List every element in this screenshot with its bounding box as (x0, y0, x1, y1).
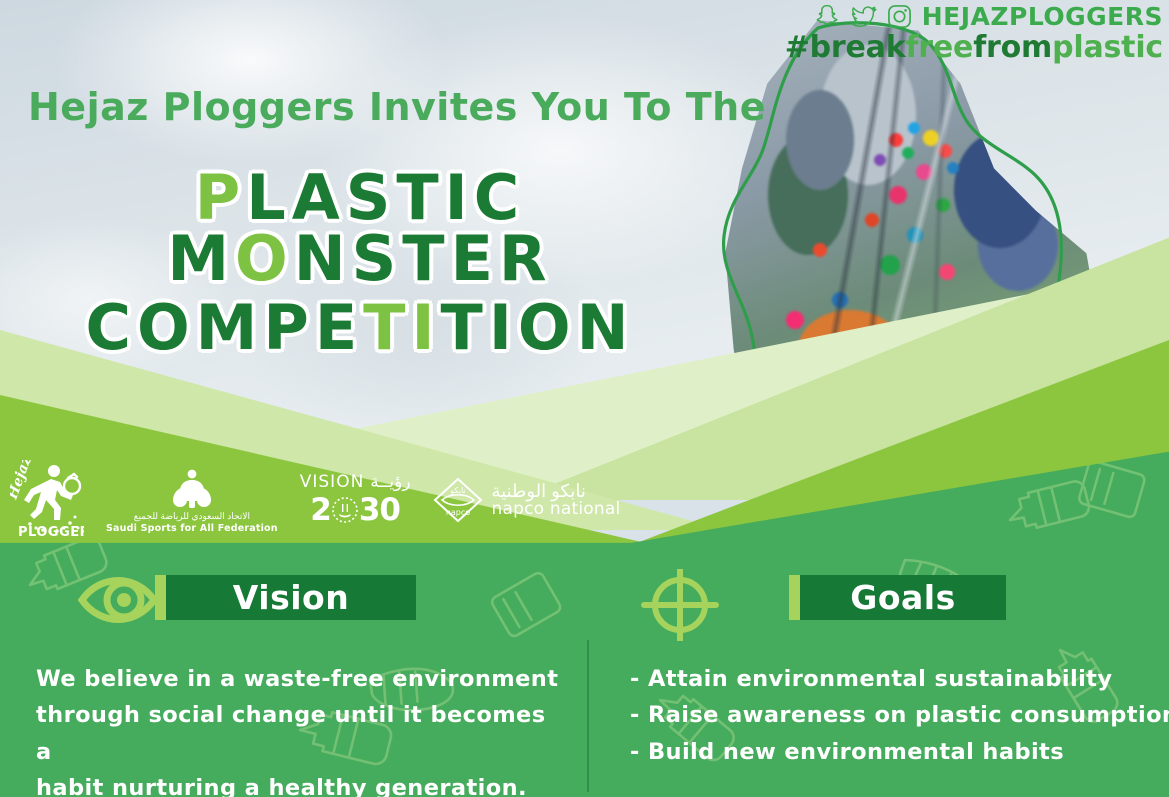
hashtag-breakfreefromplastic: #breakfreefromplastic (785, 30, 1163, 65)
page-title-line-2: COMPETITION (0, 298, 720, 359)
napco-wordmark: نابكو الوطنية napco national (492, 482, 621, 519)
napco-mark-arabic-text: نابكو (449, 486, 465, 495)
hejaz-ploggers-logo: Hejaz PLOGGERS (10, 460, 84, 540)
napco-english-text: napco national (492, 501, 621, 519)
hashtag-part-plastic: plastic (1052, 30, 1163, 65)
vision-body: We believe in a waste-free environment t… (0, 661, 580, 797)
page-title-line-1: PLASTIC MONSTER (167, 161, 552, 295)
title-glyph-ti: TI (363, 291, 440, 364)
snapchat-icon[interactable] (814, 3, 841, 30)
title-glyph-o: O (235, 222, 294, 295)
goals-title: Goals (850, 578, 955, 617)
vision-section: Vision We believe in a waste-free enviro… (0, 575, 580, 797)
vision-banner: Vision (166, 575, 416, 620)
goals-section: Goals - Attain environmental sustainabil… (600, 575, 1169, 770)
vision-line-3: habit nurturing a healthy generation. (36, 770, 560, 797)
goals-line-3: - Build new environmental habits (630, 734, 1169, 770)
goals-banner: Goals (800, 575, 1006, 620)
page-kicker: Hejaz Ploggers Invites You To The (28, 85, 766, 129)
vision-line-1: We believe in a waste-free environment (36, 661, 560, 697)
vision-year-row: 2 30 (310, 492, 400, 528)
napco-mark-latin-text: napco (445, 508, 469, 517)
goals-header-row: Goals (600, 575, 1169, 635)
target-icon (600, 569, 820, 641)
vision-emblem-icon (331, 496, 359, 524)
ploggers-wordmark-text: PLOGGERS (18, 525, 84, 540)
page-title: PLASTIC MONSTER COMPETITION (0, 168, 720, 358)
vision-year-right: 30 (359, 492, 400, 528)
saudi-sports-arabic-text: الاتحاد السعودي للرياضة للجميع (134, 512, 250, 522)
napco-arabic-text: نابكو الوطنية (492, 482, 586, 501)
vision-logo-top-row: VISION رؤيــة (300, 472, 411, 492)
title-glyph-nster: NSTER (294, 222, 553, 295)
napco-national-logo: نابكو napco نابكو الوطنية napco national (433, 477, 621, 523)
social-handle-text[interactable]: HEJAZPLOGGERS (922, 2, 1163, 31)
saudi-sports-for-all-federation-logo: الاتحاد السعودي للرياضة للجميع Saudi Spo… (106, 466, 278, 535)
social-handles[interactable]: HEJAZPLOGGERS (814, 2, 1163, 31)
saudi-sports-english-text: Saudi Sports for All Federation (106, 523, 278, 534)
vision-year-left: 2 (310, 492, 331, 528)
saudi-sports-figure-icon (169, 466, 215, 510)
instagram-icon[interactable] (886, 3, 913, 30)
vision-english-text: VISION (300, 472, 365, 492)
hejaz-runner-icon: Hejaz PLOGGERS (10, 460, 84, 540)
hashtag-part-free: free (905, 30, 973, 65)
goals-line-2: - Raise awareness on plastic consumption (630, 697, 1169, 733)
sponsor-logo-strip: Hejaz PLOGGERS الاتحاد السعودي للرياضة ل… (10, 460, 620, 540)
hashtag-part-break: #break (785, 30, 906, 65)
vision-title: Vision (233, 578, 349, 617)
vision-2030-logo: VISION رؤيــة 2 30 (300, 472, 411, 528)
vision-arabic-text: رؤيــة (370, 472, 410, 492)
poster-canvas: HEJAZPLOGGERS #breakfreefromplastic Heja… (0, 0, 1169, 797)
title-glyph-tion: TION (441, 291, 635, 364)
column-divider (587, 640, 589, 792)
vision-header-row: Vision (0, 575, 580, 635)
goals-body: - Attain environmental sustainability - … (600, 661, 1169, 770)
twitter-icon[interactable] (850, 3, 877, 30)
goals-line-1: - Attain environmental sustainability (630, 661, 1169, 697)
hashtag-part-from: from (973, 30, 1052, 65)
napco-mark-icon: نابكو napco (433, 477, 483, 523)
vision-line-2: through social change until it becomes a (36, 697, 560, 770)
title-glyph-compe: COMPE (85, 291, 363, 364)
